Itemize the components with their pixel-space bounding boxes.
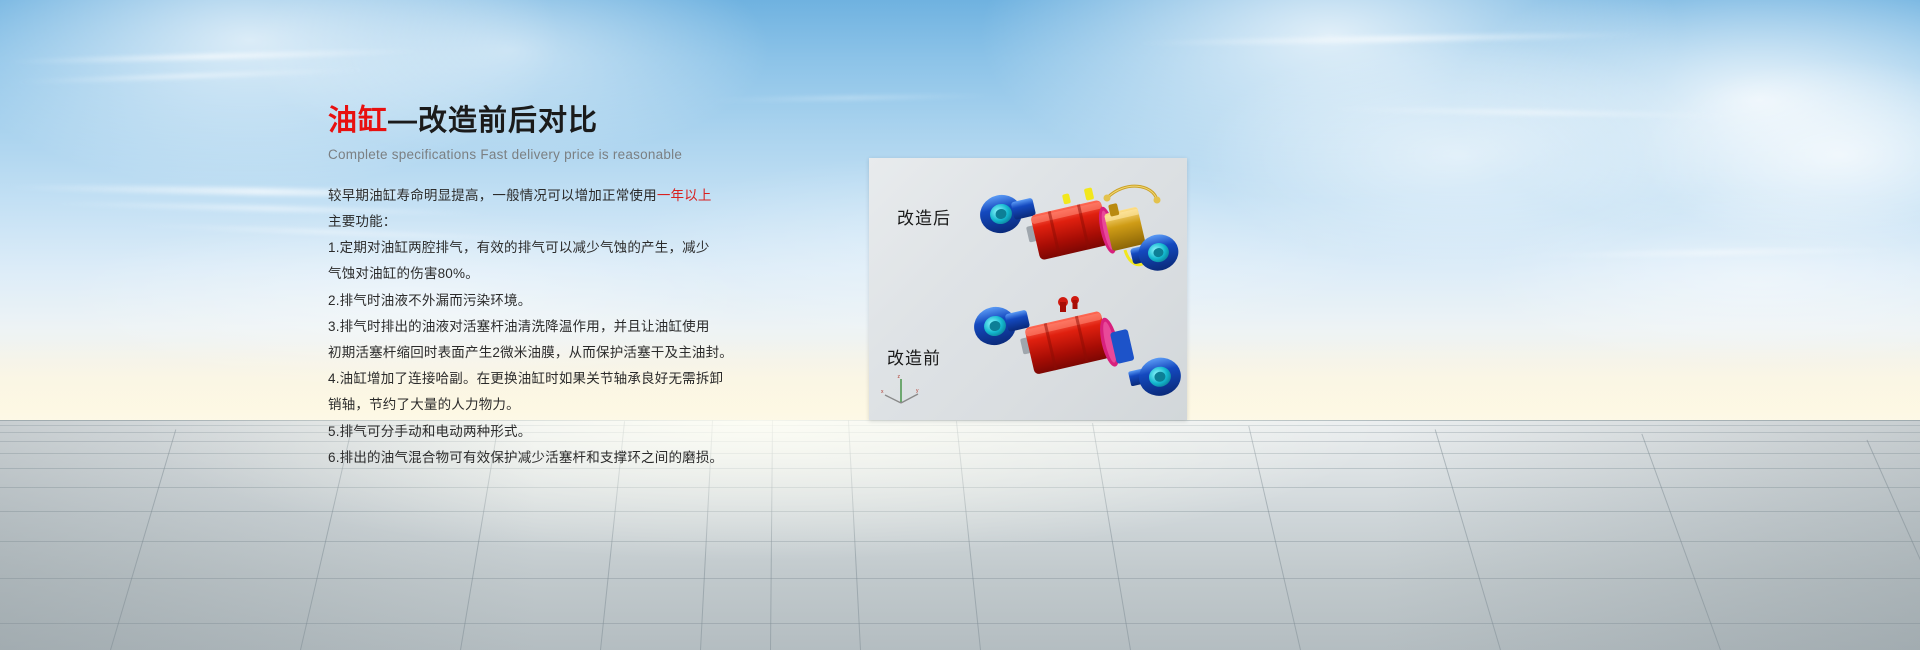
pavement-ground — [0, 420, 1920, 650]
cloud-streak — [700, 93, 1000, 102]
page-title-rest: —改造前后对比 — [388, 105, 598, 137]
label-before-modification: 改造前 — [887, 344, 941, 369]
body-line: 主要功能： — [328, 209, 858, 235]
cylinder-after-modification — [957, 172, 1183, 294]
body-line: 3.排气时排出的油液对活塞杆油清洗降温作用，并且让油缸使用 — [328, 314, 858, 340]
body-line: 6.排出的油气混合物可有效保护减少活塞杆和支撑环之间的磨损。 — [328, 445, 858, 471]
cloud-streak — [1320, 106, 1740, 118]
body-line: 5.排气可分手动和电动两种形式。 — [328, 419, 858, 445]
body-line: 2.排气时油液不外漏而污染环境。 — [328, 288, 858, 314]
cloud-streak — [10, 68, 370, 85]
page-title-highlight: 油缸 — [328, 105, 388, 137]
body-line-emphasis: 一年以上 — [657, 188, 712, 203]
cloud-streak — [1130, 31, 1650, 46]
body-line: 销轴，节约了大量的人力物力。 — [328, 392, 858, 418]
cloud-streak — [1520, 247, 1920, 259]
banner-copy: 油缸—改造前后对比 Complete specifications Fast d… — [328, 104, 858, 471]
cloud-shape — [1450, 0, 1920, 240]
body-line: 较早期油缸寿命明显提高，一般情况可以增加正常使用一年以上 — [328, 183, 858, 209]
product-comparison-panel: 改造后 改造前 z x y — [869, 158, 1187, 420]
cloud-shape — [1480, 190, 1920, 370]
page-title: 油缸—改造前后对比 — [328, 104, 858, 139]
svg-text:z: z — [898, 374, 901, 380]
body-line: 气蚀对油缸的伤害80%。 — [328, 261, 858, 287]
page-subtitle: Complete specifications Fast delivery pr… — [328, 147, 858, 162]
svg-text:x: x — [881, 389, 884, 395]
cylinder-before-modification — [955, 286, 1183, 414]
cloud-shape — [1200, 40, 1720, 270]
cloud-streak — [0, 48, 430, 64]
banner-stage: 油缸—改造前后对比 Complete specifications Fast d… — [0, 0, 1920, 650]
body-line: 4.油缸增加了连接哈副。在更换油缸时如果关节轴承良好无需拆卸 — [328, 366, 858, 392]
feature-description: 较早期油缸寿命明显提高，一般情况可以增加正常使用一年以上 主要功能： 1.定期对… — [328, 183, 858, 471]
body-line: 初期活塞杆缩回时表面产生2微米油膜，从而保护活塞干及主油封。 — [328, 340, 858, 366]
label-after-modification: 改造后 — [897, 204, 951, 229]
svg-text:y: y — [916, 388, 919, 394]
axis-gizmo-icon: z x y — [881, 373, 921, 409]
cloud-shape — [1640, 60, 1920, 250]
body-line: 1.定期对油缸两腔排气，有效的排气可以减少气蚀的产生，减少 — [328, 235, 858, 261]
